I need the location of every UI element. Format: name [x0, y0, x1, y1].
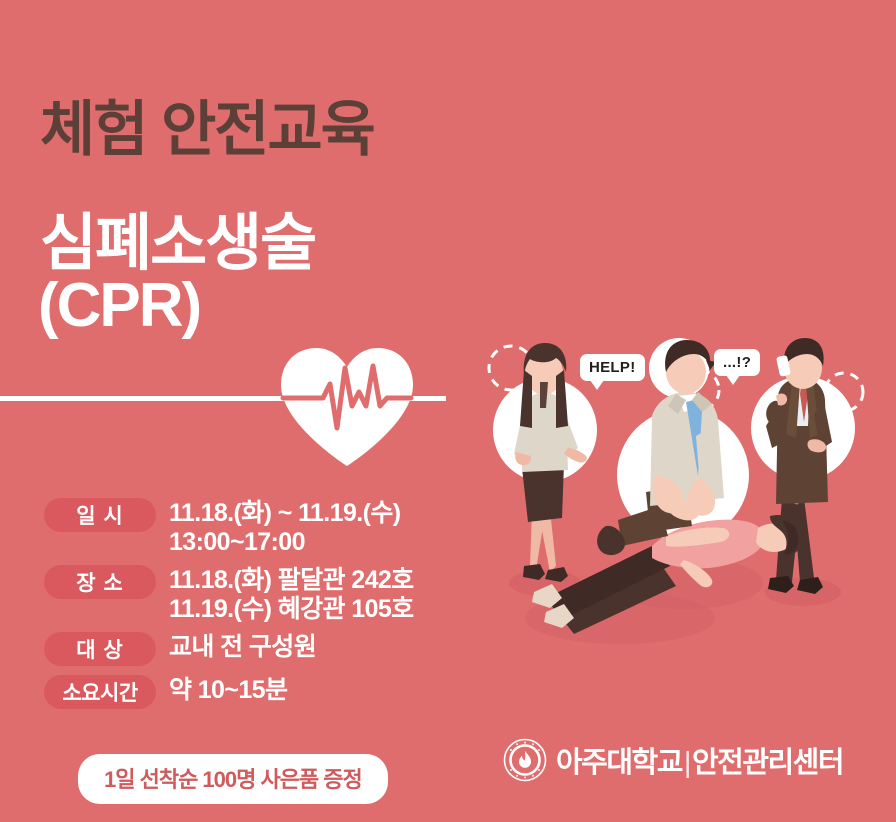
info-label-date: 일 시: [44, 498, 156, 532]
logo-text: 아주대학교|안전관리센터: [556, 739, 843, 781]
organization-logo: 아주대학교|안전관리센터: [503, 738, 843, 782]
info-row-audience: 대 상 교내 전 구성원: [44, 632, 464, 666]
page-title-english: (CPR): [38, 274, 200, 337]
info-list: 일 시 11.18.(화) ~ 11.19.(수) 13:00~17:00 장 …: [44, 498, 464, 718]
logo-center-name: 안전관리센터: [692, 747, 843, 779]
info-row-place: 장 소 11.18.(화) 팔달관 242호 11.19.(수) 혜강관 105…: [44, 565, 464, 623]
poster: 체험 안전교육 심폐소생술 (CPR) 일 시 11.18.(화) ~ 11.1…: [0, 0, 896, 822]
info-value-place: 11.18.(화) 팔달관 242호 11.19.(수) 혜강관 105호: [169, 565, 414, 623]
help-bubble: HELP!: [580, 354, 645, 381]
info-label-place: 장 소: [44, 565, 156, 599]
info-value-date: 11.18.(화) ~ 11.19.(수) 13:00~17:00: [169, 498, 400, 556]
page-title: 심폐소생술: [40, 212, 315, 275]
info-label-audience: 대 상: [44, 632, 156, 666]
info-value-audience: 교내 전 구성원: [169, 632, 316, 662]
promo-badge: 1일 선착순 100명 사은품 증정: [78, 754, 388, 804]
info-row-date: 일 시 11.18.(화) ~ 11.19.(수) 13:00~17:00: [44, 498, 464, 556]
info-value-duration: 약 10~15분: [169, 675, 287, 705]
ajou-university-seal-icon: [503, 738, 547, 782]
logo-university-name: 아주대학교: [556, 747, 682, 779]
cpr-illustration: HELP! ...!?: [470, 330, 896, 680]
logo-divider: |: [684, 747, 690, 779]
heart-with-pulse-icon: [277, 344, 417, 468]
page-eyebrow-title: 체험 안전교육: [40, 100, 374, 160]
info-row-duration: 소요시간 약 10~15분: [44, 675, 464, 709]
confused-bubble: ...!?: [714, 349, 760, 376]
info-label-duration: 소요시간: [44, 675, 156, 709]
